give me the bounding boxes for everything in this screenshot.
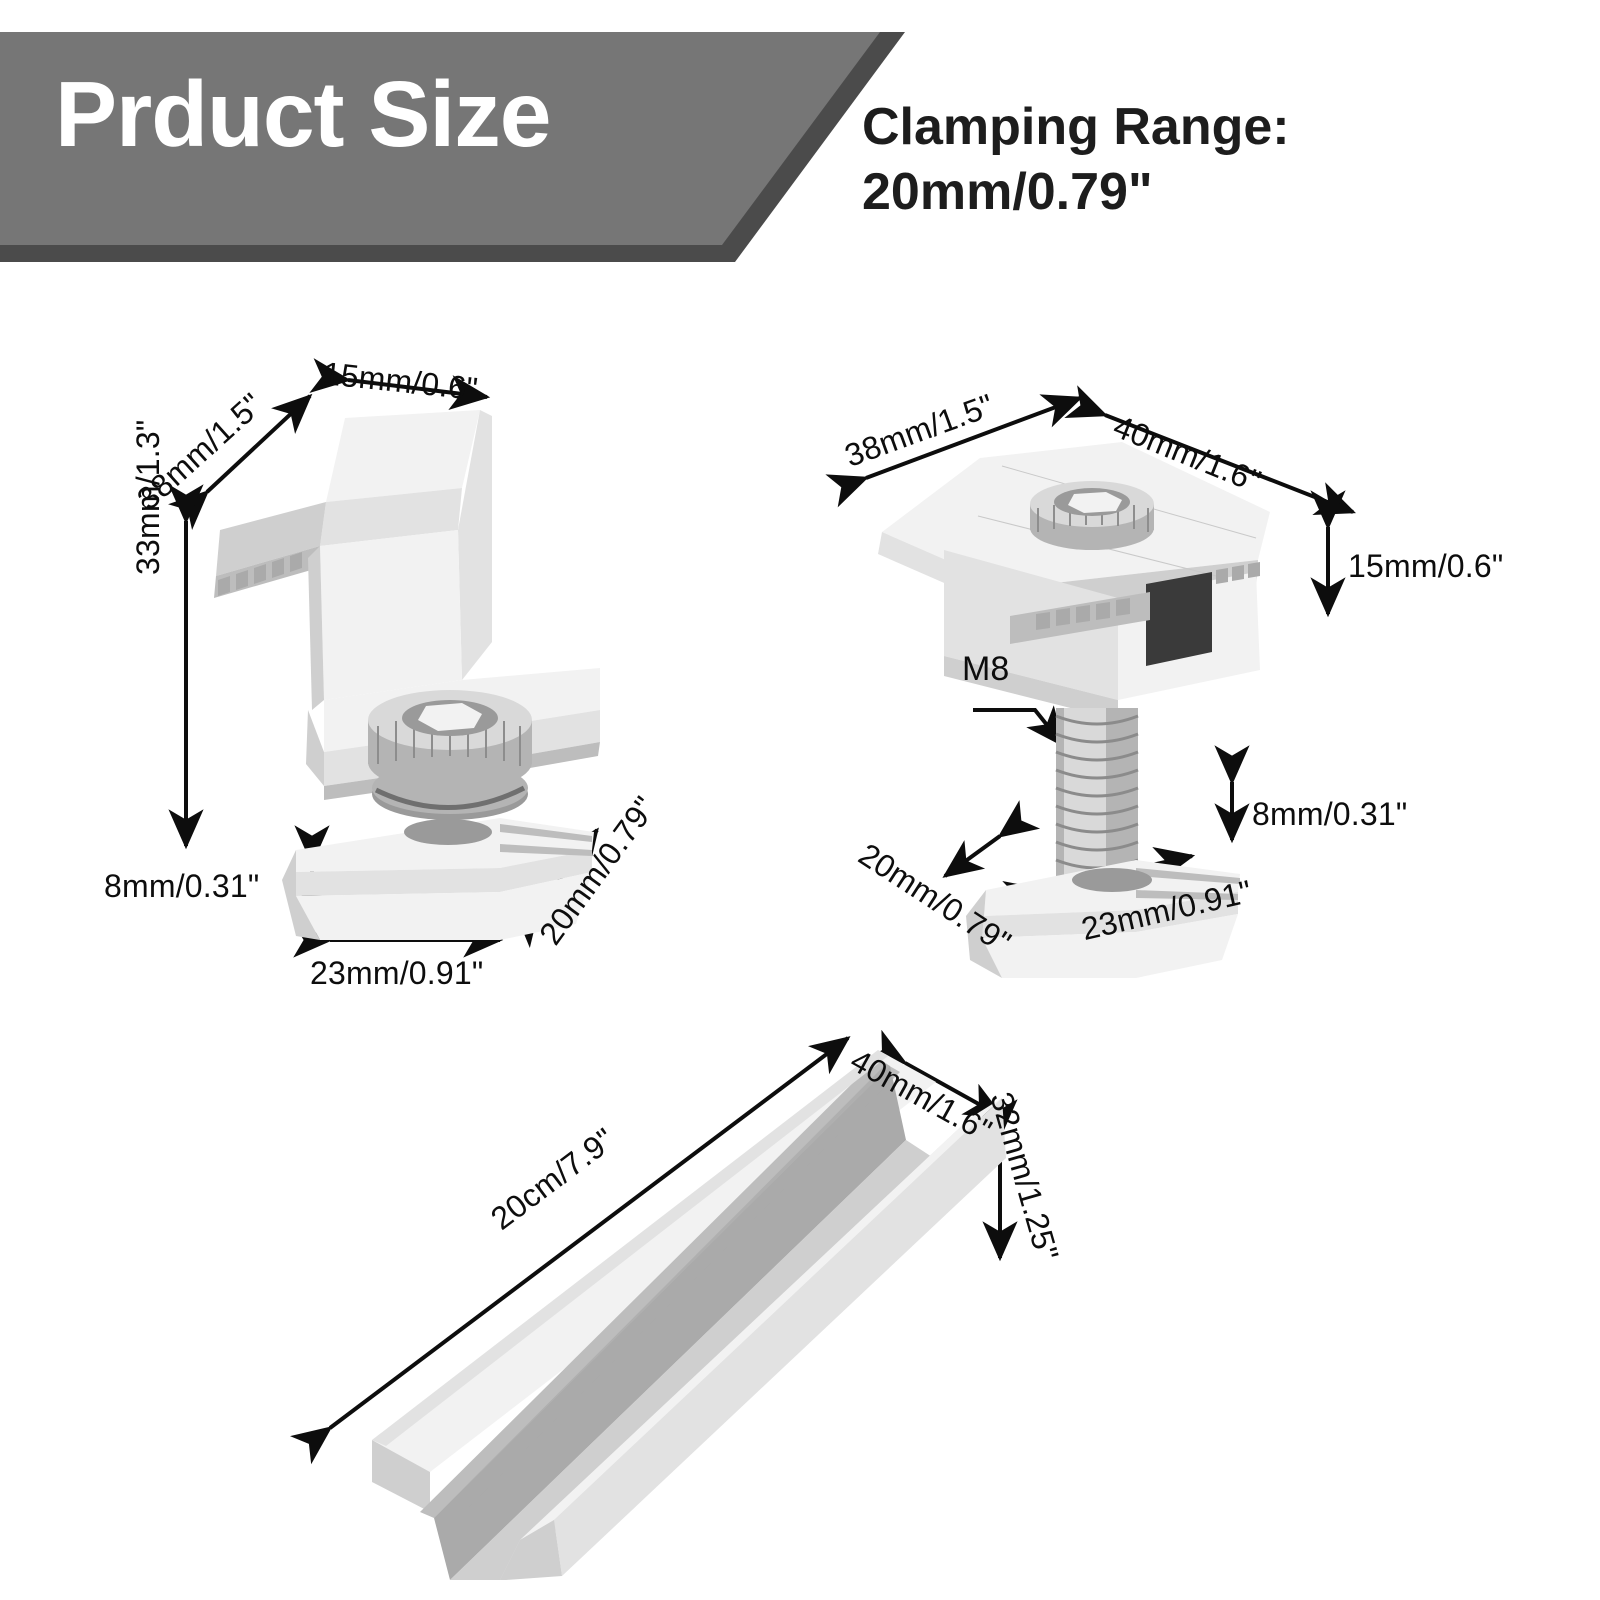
clamping-range-block: Clamping Range: 20mm/0.79" bbox=[862, 95, 1482, 225]
end-clamp-nut-width-label: 23mm/0.91" bbox=[310, 955, 483, 992]
page-title: Prduct Size bbox=[55, 68, 550, 161]
header-banner: Prduct Size bbox=[0, 32, 920, 262]
mid-clamp-illustration bbox=[860, 420, 1280, 890]
clamping-range-value: 20mm/0.79" bbox=[862, 160, 1482, 225]
m8-bolt-label: M8 bbox=[962, 650, 1009, 689]
product-size-infographic: Prduct Size Clamping Range: 20mm/0.79" bbox=[0, 0, 1600, 1600]
clamping-range-label: Clamping Range: bbox=[862, 95, 1482, 160]
end-clamp-height-label: 33mm/1.3" bbox=[130, 420, 167, 575]
end-clamp-illustration bbox=[200, 380, 620, 940]
mid-clamp-body-height-label: 15mm/0.6" bbox=[1348, 548, 1503, 585]
end-clamp-nut-height-label: 8mm/0.31" bbox=[104, 868, 259, 905]
mid-clamp-nut-height-label: 8mm/0.31" bbox=[1252, 796, 1407, 833]
